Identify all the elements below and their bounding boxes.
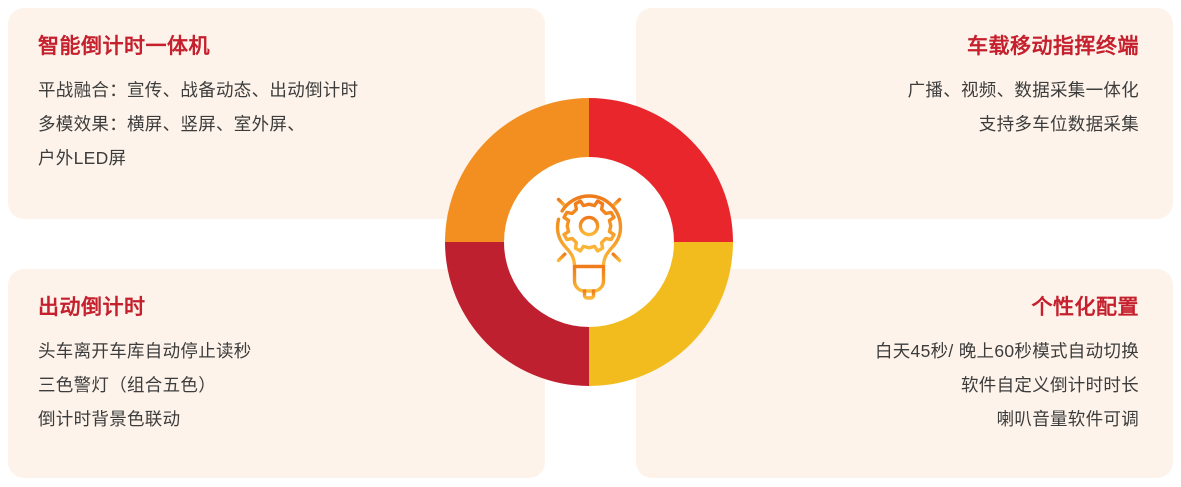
card-line: 头车离开车库自动停止读秒 xyxy=(38,336,252,367)
card-line: 软件自定义倒计时时长 xyxy=(875,370,1139,401)
infographic-root: 智能倒计时一体机 平战融合：宣传、战备动态、出动倒计时 多模效果：横屏、竖屏、室… xyxy=(0,0,1181,487)
card-body: 白天45秒/ 晚上60秒模式自动切换 软件自定义倒计时时长 喇叭音量软件可调 xyxy=(875,336,1139,435)
card-line: 广播、视频、数据采集一体化 xyxy=(908,75,1139,106)
card-title: 车载移动指挥终端 xyxy=(967,34,1139,59)
lightbulb-gear-icon xyxy=(529,180,649,304)
card-title: 智能倒计时一体机 xyxy=(38,34,210,59)
donut-chart xyxy=(445,98,733,386)
card-title: 个性化配置 xyxy=(1032,295,1140,320)
card-title: 出动倒计时 xyxy=(38,295,146,320)
card-line: 白天45秒/ 晚上60秒模式自动切换 xyxy=(875,336,1139,367)
card-body: 广播、视频、数据采集一体化 支持多车位数据采集 xyxy=(908,75,1139,140)
card-line: 平战融合：宣传、战备动态、出动倒计时 xyxy=(38,75,358,106)
card-line: 支持多车位数据采集 xyxy=(908,109,1139,140)
card-body: 平战融合：宣传、战备动态、出动倒计时 多模效果：横屏、竖屏、室外屏、 户外LED… xyxy=(38,75,358,174)
card-line: 三色警灯（组合五色） xyxy=(38,370,252,401)
card-line: 喇叭音量软件可调 xyxy=(875,404,1139,435)
card-line: 户外LED屏 xyxy=(38,143,358,174)
card-body: 头车离开车库自动停止读秒 三色警灯（组合五色） 倒计时背景色联动 xyxy=(38,336,252,435)
card-line: 多模效果：横屏、竖屏、室外屏、 xyxy=(38,109,358,140)
lightbulb-gear-icon-svg xyxy=(529,180,649,304)
card-line: 倒计时背景色联动 xyxy=(38,404,252,435)
